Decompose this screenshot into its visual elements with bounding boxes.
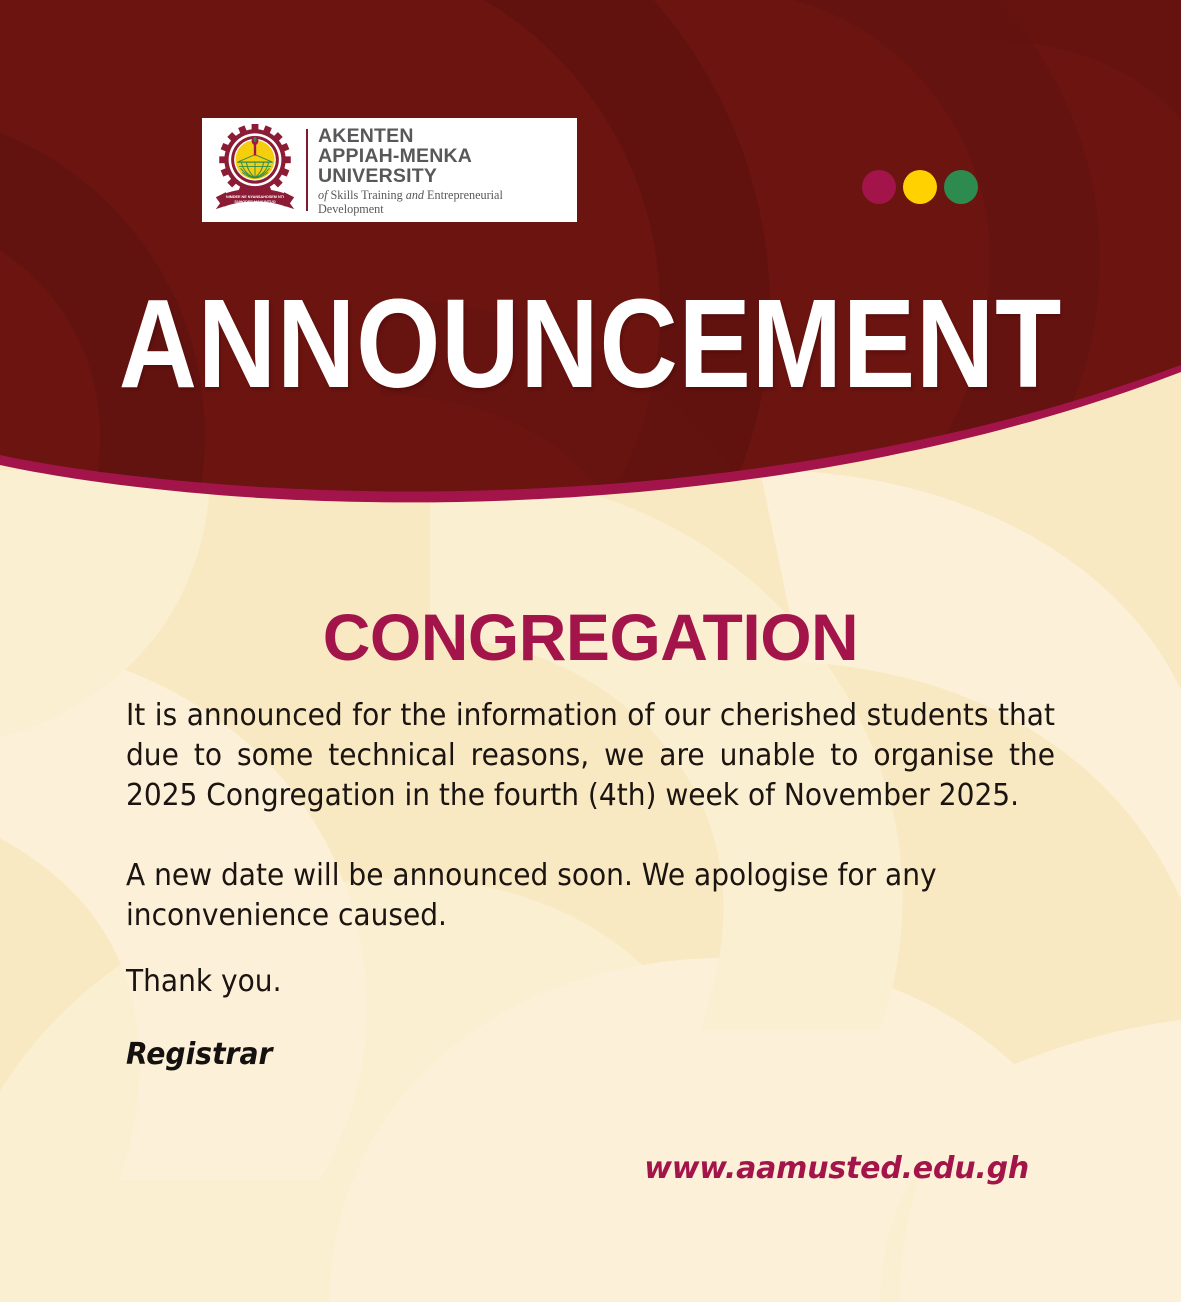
logo-tagline-mid: Skills Training: [331, 188, 406, 202]
website-url[interactable]: www.aamusted.edu.gh: [644, 1152, 1029, 1186]
announcement-poster: NIMDEE NE NYANSAHOSEM NTI SUHODEE MAHUNT…: [0, 0, 1181, 1302]
body-text-block: It is announced for the information of o…: [0, 696, 1181, 1074]
svg-text:SUHODEE MAHUNTUO: SUHODEE MAHUNTUO: [234, 200, 275, 204]
logo-tagline: of Skills Training and Entrepreneurial D…: [318, 188, 569, 216]
university-logo-lockup: NIMDEE NE NYANSAHOSEM NTI SUHODEE MAHUNT…: [202, 118, 577, 222]
logo-line-1: AKENTEN: [318, 126, 569, 146]
section-heading: CONGREGATION: [0, 600, 1181, 674]
logo-tagline-of: of: [318, 188, 331, 202]
poster-body: CONGREGATION It is announced for the inf…: [0, 600, 1181, 1074]
decorative-dots: [862, 170, 978, 204]
logo-line-3: UNIVERSITY: [318, 166, 569, 186]
svg-text:NIMDEE NE NYANSAHOSEM NTI: NIMDEE NE NYANSAHOSEM NTI: [226, 195, 284, 199]
university-crest-icon: NIMDEE NE NYANSAHOSEM NTI SUHODEE MAHUNT…: [212, 124, 298, 216]
logo-divider: [306, 129, 308, 211]
paragraph-3: Thank you.: [126, 962, 1055, 1002]
dot-green: [944, 170, 978, 204]
logo-wordmark: AKENTEN APPIAH-MENKA UNIVERSITY of Skill…: [318, 124, 569, 216]
logo-tagline-and: and: [406, 188, 424, 202]
logo-line-2: APPIAH-MENKA: [318, 146, 569, 166]
paragraph-spacer-1: [126, 816, 1055, 856]
signature-line: Registrar: [126, 1036, 999, 1074]
paragraph-spacer-2: [126, 936, 1055, 962]
paragraph-spacer-3: [126, 1002, 1055, 1036]
poster-title: ANNOUNCEMENT: [83, 281, 1099, 407]
dot-gold: [903, 170, 937, 204]
paragraph-2: A new date will be announced soon. We ap…: [126, 856, 1055, 936]
paragraph-1: It is announced for the information of o…: [126, 696, 1055, 816]
dot-crimson: [862, 170, 896, 204]
